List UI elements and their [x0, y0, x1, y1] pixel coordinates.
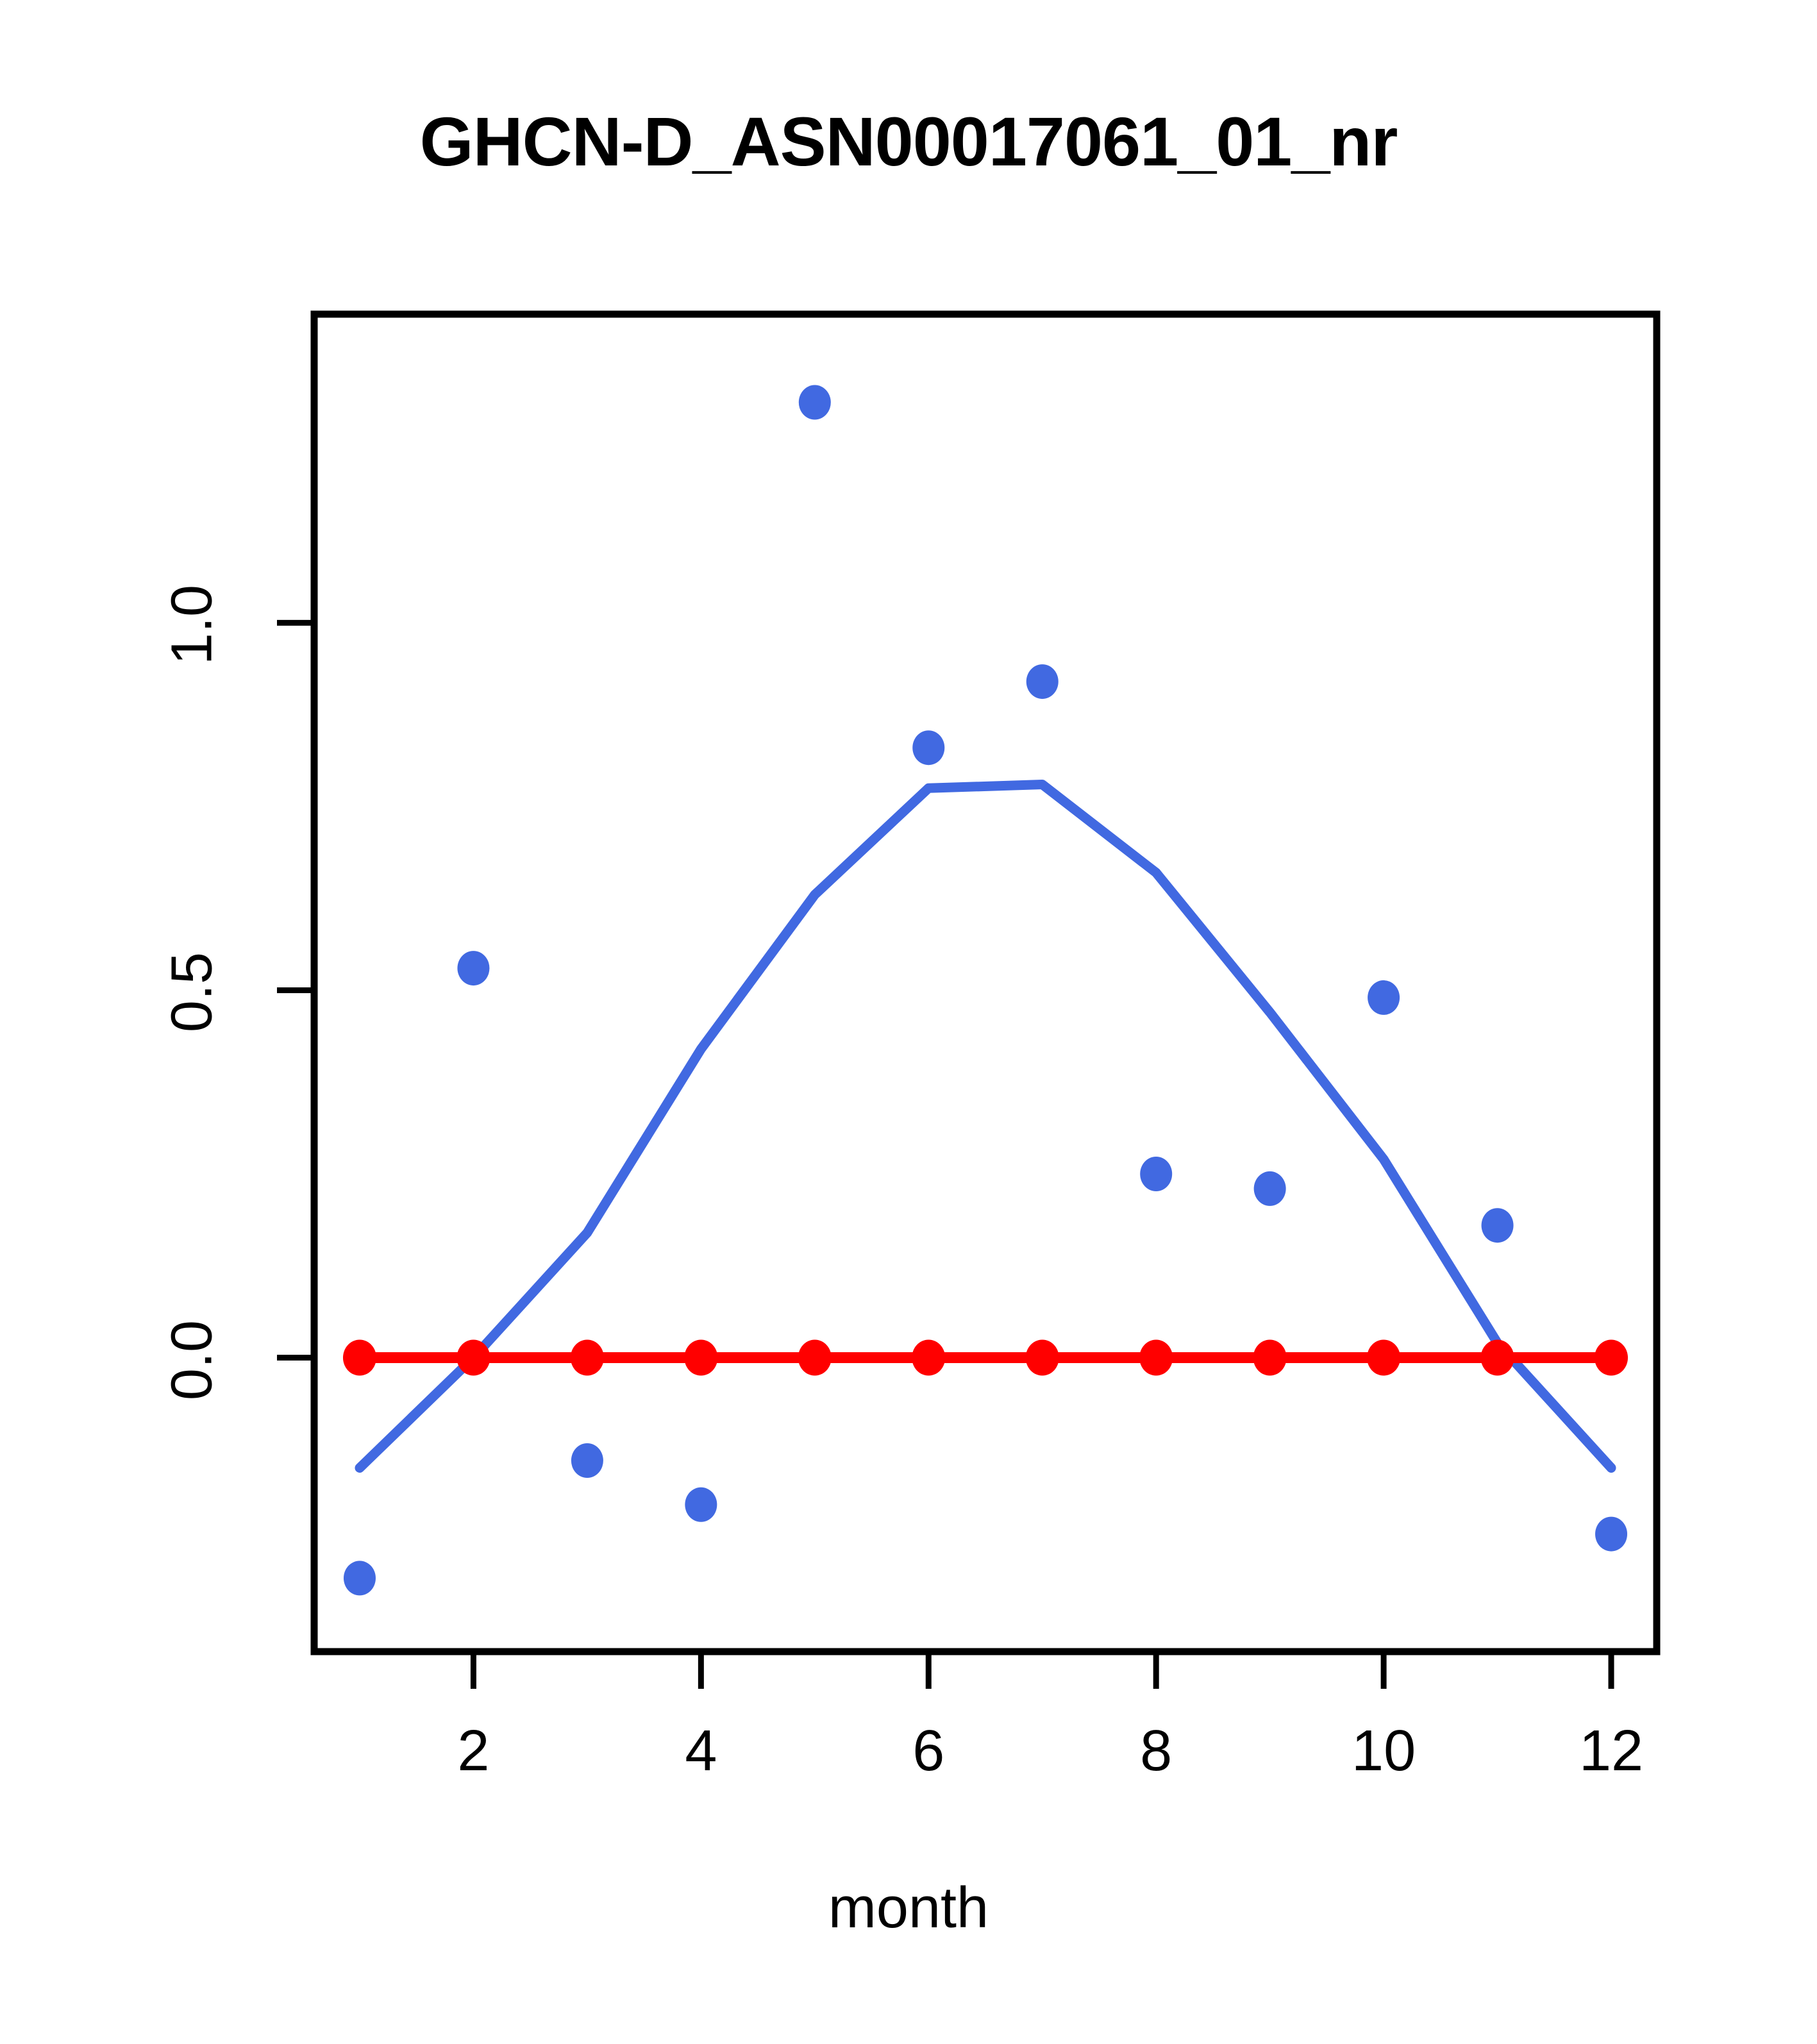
y-tick-label-1.0: 1.0	[160, 567, 226, 683]
y-tick-label-0.5: 0.5	[160, 935, 226, 1050]
x-tick-label-6: 6	[912, 1718, 944, 1784]
x-axis-ticks	[473, 1652, 1611, 1689]
reference-point-month-1	[343, 1340, 376, 1376]
reference-point-month-12	[1595, 1340, 1628, 1376]
x-tick-label-4: 4	[685, 1718, 717, 1784]
reference-point-month-3	[571, 1340, 604, 1376]
data-point-month-10	[1368, 980, 1400, 1015]
data-point-month-2	[457, 951, 489, 985]
x-tick-label-8: 8	[1140, 1718, 1172, 1784]
x-axis-label: month	[0, 1875, 1817, 1941]
data-point-month-3	[571, 1443, 603, 1478]
reference-point-month-9	[1253, 1340, 1287, 1376]
reference-point-month-11	[1481, 1340, 1514, 1376]
reference-point-month-2	[456, 1340, 490, 1376]
observed-points-series	[344, 385, 1627, 1596]
plot-box	[314, 314, 1657, 1652]
reference-point-month-4	[684, 1340, 717, 1376]
data-point-month-11	[1482, 1208, 1514, 1243]
y-axis-ticks	[277, 623, 314, 1357]
data-point-month-6	[912, 730, 944, 765]
data-point-month-4	[685, 1487, 717, 1522]
chart-canvas	[0, 0, 1817, 2044]
data-point-month-8	[1140, 1157, 1172, 1191]
reference-point-month-7	[1026, 1340, 1059, 1376]
data-point-month-5	[799, 385, 831, 420]
chart-figure: GHCN-D_ASN00017061_01_nr 24681012 0.00.5…	[0, 0, 1817, 2044]
reference-point-month-5	[798, 1340, 832, 1376]
x-tick-label-10: 10	[1352, 1718, 1416, 1784]
data-point-month-12	[1595, 1517, 1627, 1552]
y-tick-label-0.0: 0.0	[160, 1302, 226, 1418]
data-point-month-9	[1254, 1171, 1286, 1206]
x-tick-label-12: 12	[1579, 1718, 1643, 1784]
fitted-line-series	[360, 785, 1611, 1468]
data-point-month-7	[1026, 664, 1059, 699]
data-point-month-1	[344, 1561, 376, 1595]
fitted-seasonal-line	[360, 785, 1611, 1468]
reference-point-month-6	[912, 1340, 945, 1376]
x-tick-label-2: 2	[457, 1718, 489, 1784]
reference-point-month-8	[1139, 1340, 1173, 1376]
reference-point-month-10	[1367, 1340, 1400, 1376]
